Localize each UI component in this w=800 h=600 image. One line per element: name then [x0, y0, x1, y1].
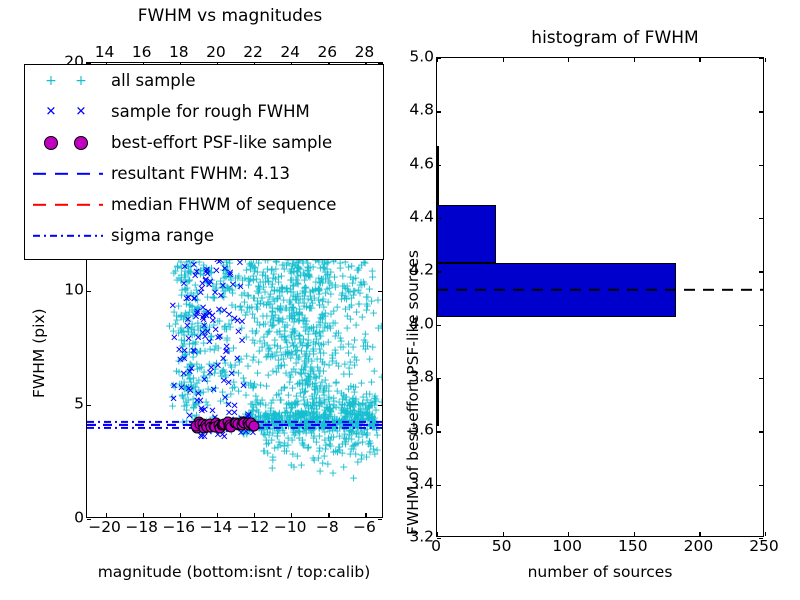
left-panel-xlabel: magnitude (bottom:isnt / top:calib) [98, 563, 371, 581]
legend-marker-plus: + [45, 74, 57, 88]
legend-entry: ✕✕sample for rough FWHM [25, 96, 383, 127]
x-tick-label-top: 14 [95, 45, 115, 61]
y-tick-label: 5 [74, 396, 84, 412]
legend-label: median FHWM of sequence [111, 195, 336, 214]
x-tick-label-bottom: −8 [316, 520, 339, 536]
legend-marker-dot [74, 136, 88, 150]
y-tick-right [378, 291, 382, 292]
hist-y-tick-right [759, 485, 763, 486]
hist-y-tick-right [759, 58, 763, 59]
legend-key: ++ [25, 65, 111, 96]
x-tick-label-top: 22 [243, 45, 263, 61]
legend-box: ++all sample✕✕sample for rough FWHMbest-… [24, 64, 384, 260]
legend-key [25, 189, 111, 220]
hist-y-tick-label: 5.0 [409, 49, 434, 65]
legend-marker-dot [44, 136, 58, 150]
x-tick-label-top: 16 [132, 45, 152, 61]
legend-key: ✕✕ [25, 96, 111, 127]
hist-x-tick-top [568, 58, 569, 62]
legend-label: sigma range [111, 226, 214, 245]
hist-y-tick [437, 271, 441, 272]
legend-entry: median FHWM of sequence [25, 189, 383, 220]
legend-label: all sample [111, 71, 196, 90]
hist-x-tick-label: 50 [492, 539, 512, 555]
psf-sample-point [249, 421, 260, 432]
x-tick-label-top: 24 [280, 45, 300, 61]
legend-marker-x: ✕ [46, 105, 57, 118]
hist-x-tick-top [503, 58, 504, 62]
legend-key [25, 127, 111, 158]
legend-entry: ++all sample [25, 65, 383, 96]
x-tick-bottom [365, 513, 366, 517]
hist-x-tick-top [765, 58, 766, 62]
legend-key [25, 220, 111, 251]
right-panel-title: histogram of FWHM [531, 28, 698, 48]
hist-y-tick-right [759, 218, 763, 219]
hist-y-tick [437, 218, 441, 219]
x-tick-label-top: 26 [317, 45, 337, 61]
hist-y-tick-label: 4.4 [409, 209, 434, 225]
legend-line-dashdot [33, 234, 103, 236]
hist-y-tick [437, 165, 441, 166]
hist-x-tick [765, 532, 766, 536]
x-tick-bottom [217, 513, 218, 517]
x-tick-bottom [143, 513, 144, 517]
x-tick-label-top: 28 [355, 45, 375, 61]
right-panel-ylabel: FWHM of best-effort PSF-like sources [404, 250, 422, 535]
y-tick-label: 10 [64, 282, 84, 298]
hist-median-line [437, 289, 763, 291]
hist-y-tick [437, 485, 441, 486]
hist-x-tick-top [699, 58, 700, 62]
y-tick [87, 291, 91, 292]
legend-label: best-effort PSF-like sample [111, 133, 332, 152]
legend-key [25, 158, 111, 189]
legend-marker-x: ✕ [76, 105, 87, 118]
x-tick-label-bottom: −16 [162, 520, 195, 536]
hist-y-tick-right [759, 431, 763, 432]
legend-line-dashed [33, 203, 103, 205]
hist-y-tick-right [759, 165, 763, 166]
hist-y-tick-right [759, 325, 763, 326]
x-tick-label-top: 18 [169, 45, 189, 61]
hist-y-tick-label: 4.8 [409, 103, 434, 119]
legend-entry: best-effort PSF-like sample [25, 127, 383, 158]
hist-y-tick-label: 4.6 [409, 156, 434, 172]
hist-y-tick-right [759, 378, 763, 379]
legend-marker-plus: + [75, 74, 87, 88]
x-tick-bottom [328, 513, 329, 517]
hist-x-tick [634, 532, 635, 536]
hist-y-tick [437, 378, 441, 379]
x-tick-label-top: 20 [206, 45, 226, 61]
legend-label: resultant FWHM: 4.13 [111, 164, 290, 183]
figure-canvas: FWHM vs magnitudes +++++++++++++++++++++… [0, 0, 800, 600]
right-panel-xlabel: number of sources [528, 563, 673, 581]
hist-x-tick [437, 532, 438, 536]
legend-line-dashed [33, 172, 103, 174]
histogram-axes [436, 57, 764, 537]
left-panel-ylabel: FWHM (pix) [30, 308, 48, 398]
hist-x-tick-label: 150 [618, 539, 648, 555]
x-tick-bottom [254, 513, 255, 517]
left-panel-title: FWHM vs magnitudes [138, 6, 323, 26]
x-tick-label-bottom: −6 [353, 520, 376, 536]
x-tick-bottom [291, 513, 292, 517]
hist-x-tick-label: 100 [552, 539, 582, 555]
hist-x-tick-top [634, 58, 635, 62]
legend-entry: sigma range [25, 220, 383, 251]
histogram-reference-line-layer [437, 58, 763, 536]
legend-label: sample for rough FWHM [111, 102, 310, 121]
y-tick [87, 405, 91, 406]
x-tick-bottom [180, 513, 181, 517]
hist-x-tick [503, 532, 504, 536]
x-tick-label-bottom: −18 [125, 520, 158, 536]
hist-x-tick [699, 532, 700, 536]
x-tick-label-bottom: −10 [274, 520, 307, 536]
x-tick-label-bottom: −12 [237, 520, 270, 536]
y-tick-right [378, 405, 382, 406]
hist-x-tick [568, 532, 569, 536]
x-tick-label-bottom: −14 [200, 520, 233, 536]
hist-y-tick [437, 111, 441, 112]
hist-x-tick-label: 250 [749, 539, 779, 555]
hist-y-tick-right [759, 271, 763, 272]
y-tick-right [378, 519, 382, 520]
hist-y-tick [437, 431, 441, 432]
hist-y-tick [437, 325, 441, 326]
hist-x-tick-label: 200 [684, 539, 714, 555]
x-tick-label-bottom: −20 [88, 520, 121, 536]
legend-entry: resultant FWHM: 4.13 [25, 158, 383, 189]
hist-y-tick [437, 58, 441, 59]
hist-y-tick-right [759, 111, 763, 112]
x-tick-bottom [106, 513, 107, 517]
y-tick-label: 0 [74, 510, 84, 526]
